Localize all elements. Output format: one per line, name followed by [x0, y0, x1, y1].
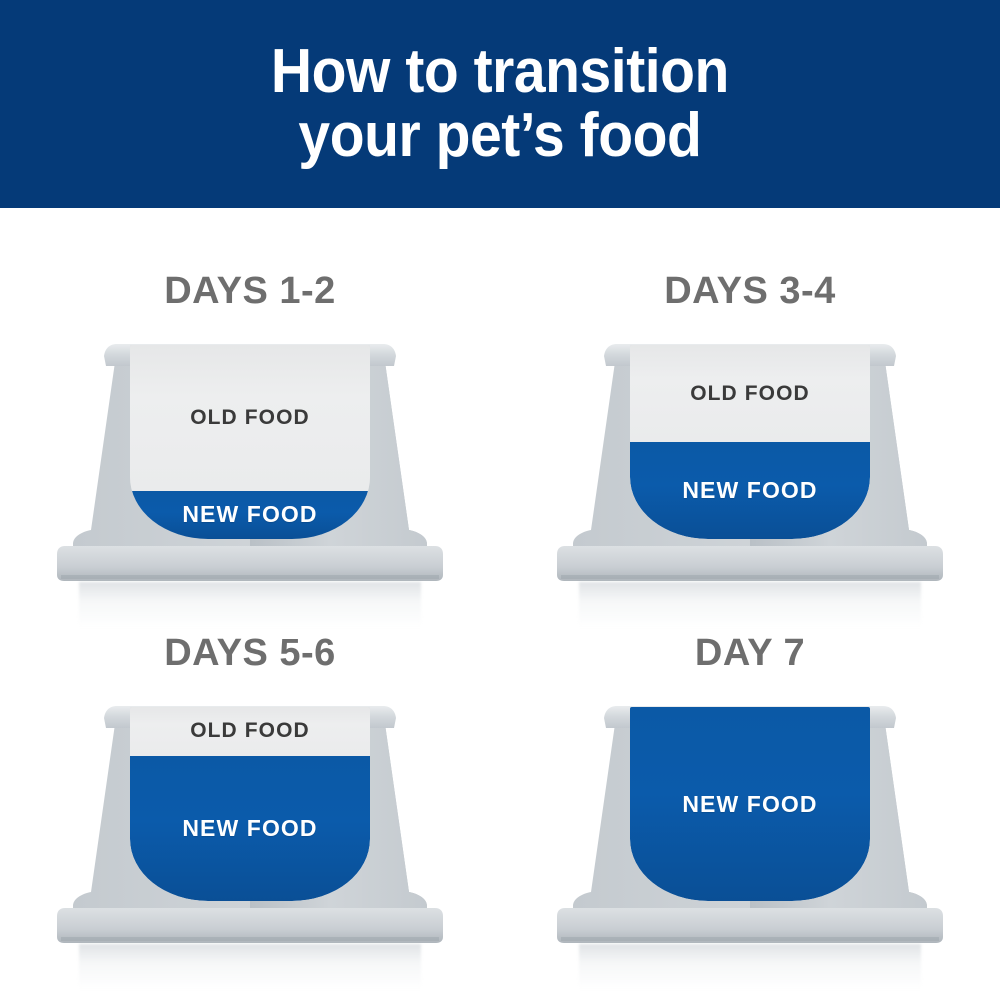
old-food-label: OLD FOOD: [190, 719, 310, 743]
old-food-fill: OLD FOOD: [630, 345, 870, 442]
bowl-cavity: OLD FOOD NEW FOOD: [630, 345, 870, 539]
bowl-days-1-2: OLD FOOD NEW FOOD: [55, 332, 445, 582]
new-food-fill: NEW FOOD: [630, 707, 870, 901]
header-banner: How to transition your pet’s food: [0, 0, 1000, 208]
panel-title: DAYS 1-2: [164, 208, 336, 310]
new-food-label: NEW FOOD: [682, 791, 817, 818]
panel-days-3-4: DAYS 3-4: [500, 208, 1000, 604]
panel-days-1-2: DAYS 1-2: [0, 208, 500, 604]
bowl-cavity: NEW FOOD: [630, 707, 870, 901]
old-food-label: OLD FOOD: [190, 406, 310, 430]
panel-days-5-6: DAYS 5-6: [0, 604, 500, 1000]
page-title: How to transition your pet’s food: [234, 40, 766, 169]
panel-day-7: DAY 7: [500, 604, 1000, 1000]
new-food-label: NEW FOOD: [182, 501, 317, 528]
bowl-day-7: NEW FOOD: [555, 694, 945, 944]
bowl-days-3-4: OLD FOOD NEW FOOD: [555, 332, 945, 582]
panel-title: DAYS 5-6: [164, 604, 336, 672]
transition-steps-grid: DAYS 1-2: [0, 208, 1000, 1000]
old-food-label: OLD FOOD: [690, 382, 810, 406]
new-food-fill: NEW FOOD: [630, 442, 870, 539]
bowl-cavity: OLD FOOD NEW FOOD: [130, 707, 370, 901]
old-food-fill: OLD FOOD: [130, 707, 370, 756]
new-food-label: NEW FOOD: [682, 477, 817, 504]
panel-title: DAYS 3-4: [664, 208, 836, 310]
new-food-fill: NEW FOOD: [130, 756, 370, 902]
new-food-fill: NEW FOOD: [130, 491, 370, 540]
old-food-fill: OLD FOOD: [130, 345, 370, 491]
bowl-cavity: OLD FOOD NEW FOOD: [130, 345, 370, 539]
bowl-reflection: [79, 944, 421, 990]
panel-title: DAY 7: [695, 604, 805, 672]
bowl-days-5-6: OLD FOOD NEW FOOD: [55, 694, 445, 944]
bowl-reflection: [579, 944, 921, 990]
new-food-label: NEW FOOD: [182, 815, 317, 842]
